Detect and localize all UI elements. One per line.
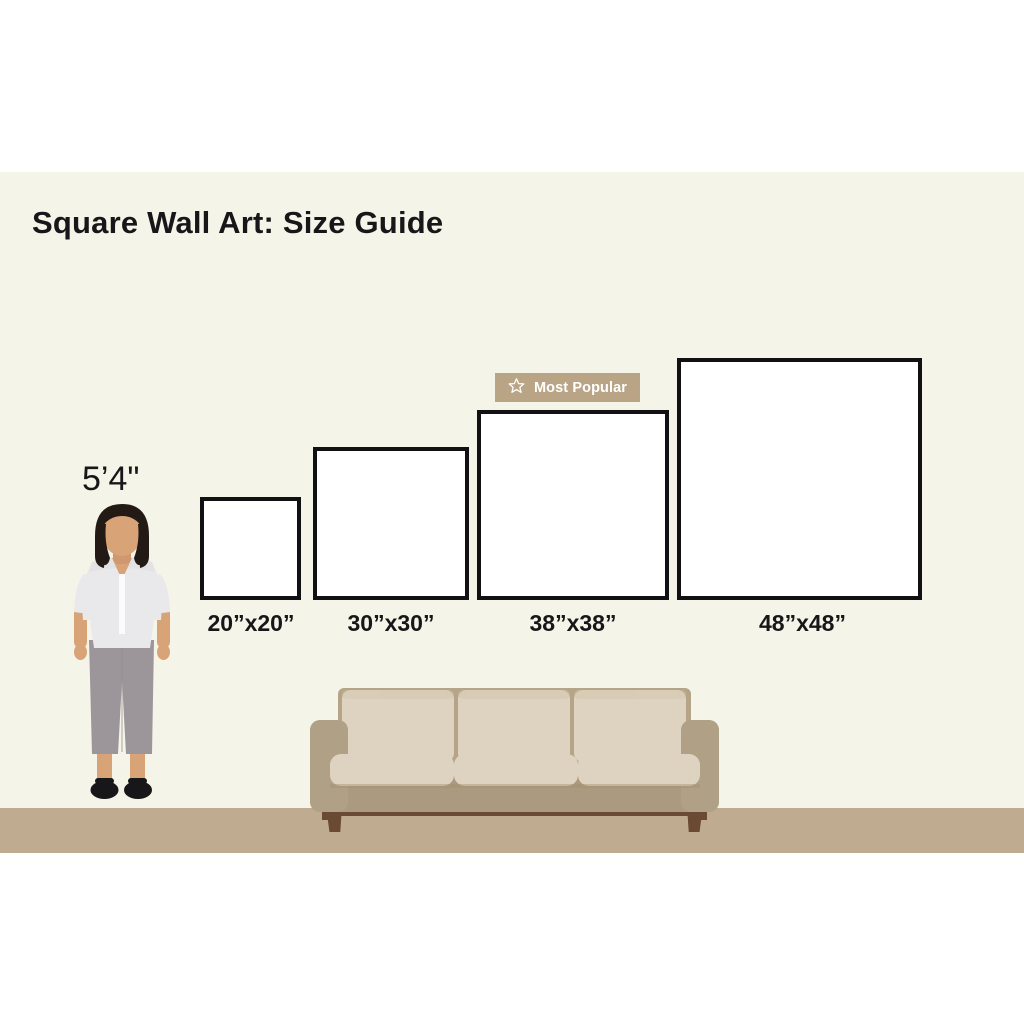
page-title: Square Wall Art: Size Guide [32,205,443,241]
frame-30x30[interactable] [313,447,469,600]
sofa-seat-cushions [330,754,700,786]
person-figure [62,502,182,812]
person-illustration [62,502,182,812]
placket [119,574,125,634]
frame-48x48[interactable] [677,358,922,600]
sofa-illustration [290,672,740,832]
frame-20x20-label: 20”x20” [196,610,306,637]
size-guide-infographic: Square Wall Art: Size Guide [0,0,1024,1024]
frame-48x48-label: 48”x48” [745,610,860,637]
most-popular-badge-label: Most Popular [534,380,627,396]
person-height-label: 5’4" [82,460,139,499]
sofa-back-cushions [342,690,686,762]
frame-38x38[interactable] [477,410,669,600]
frame-38x38-label: 38”x38” [518,610,628,637]
frame-20x20[interactable] [200,497,301,600]
room-scene: Square Wall Art: Size Guide [0,172,1024,853]
shoes [91,778,153,799]
most-popular-badge: Most Popular [495,373,640,402]
star-outline-icon [508,377,525,399]
frame-30x30-label: 30”x30” [336,610,446,637]
sofa-svg [290,672,740,832]
